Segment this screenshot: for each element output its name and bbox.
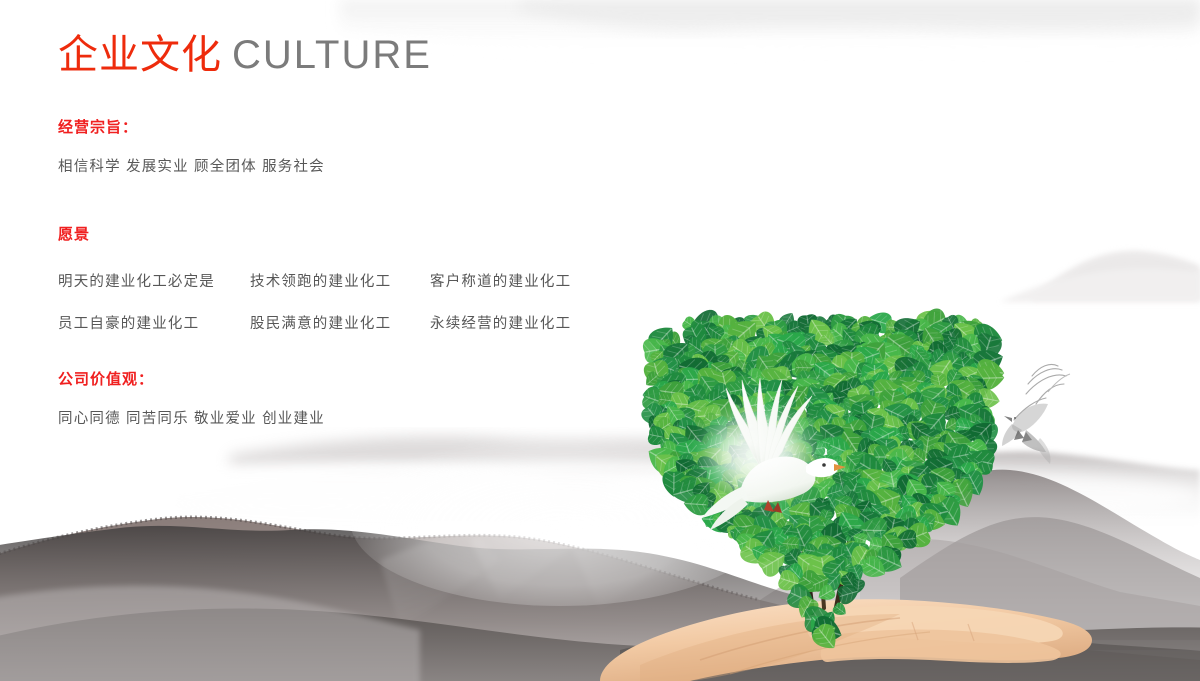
section-body-purpose: 相信科学 发展实业 顾全团体 服务社会 [58,154,325,180]
slide-content: 企业文化CULTURE 经营宗旨： 相信科学 发展实业 顾全团体 服务社会 愿景… [0,0,1200,681]
section-heading-vision: 愿景 [58,225,571,245]
section-business-purpose: 经营宗旨： 相信科学 发展实业 顾全团体 服务社会 [58,118,325,180]
vision-cell: 股民满意的建业化工 [250,312,430,333]
page-title-en: CULTURE [232,33,432,77]
vision-row: 明天的建业化工必定是 技术领跑的建业化工 客户称道的建业化工 [58,259,571,301]
vision-row: 员工自豪的建业化工 股民满意的建业化工 永续经营的建业化工 [58,301,571,343]
vision-cell: 员工自豪的建业化工 [58,312,250,333]
vision-cell: 客户称道的建业化工 [430,270,571,291]
section-vision: 愿景 明天的建业化工必定是 技术领跑的建业化工 客户称道的建业化工 员工自豪的建… [58,225,571,343]
vision-cell: 明天的建业化工必定是 [58,270,250,291]
section-company-values: 公司价值观： 同心同德 同苦同乐 敬业爱业 创业建业 [58,370,325,432]
section-body-values: 同心同德 同苦同乐 敬业爱业 创业建业 [58,406,325,432]
slide-canvas: 企业文化CULTURE 经营宗旨： 相信科学 发展实业 顾全团体 服务社会 愿景… [0,0,1200,681]
page-title: 企业文化CULTURE [58,30,432,80]
vision-grid: 明天的建业化工必定是 技术领跑的建业化工 客户称道的建业化工 员工自豪的建业化工… [58,259,571,343]
page-title-cn: 企业文化 [58,33,222,77]
section-heading-purpose: 经营宗旨： [58,118,325,138]
section-heading-values: 公司价值观： [58,370,325,390]
vision-cell: 永续经营的建业化工 [430,312,571,333]
vision-cell: 技术领跑的建业化工 [250,270,430,291]
